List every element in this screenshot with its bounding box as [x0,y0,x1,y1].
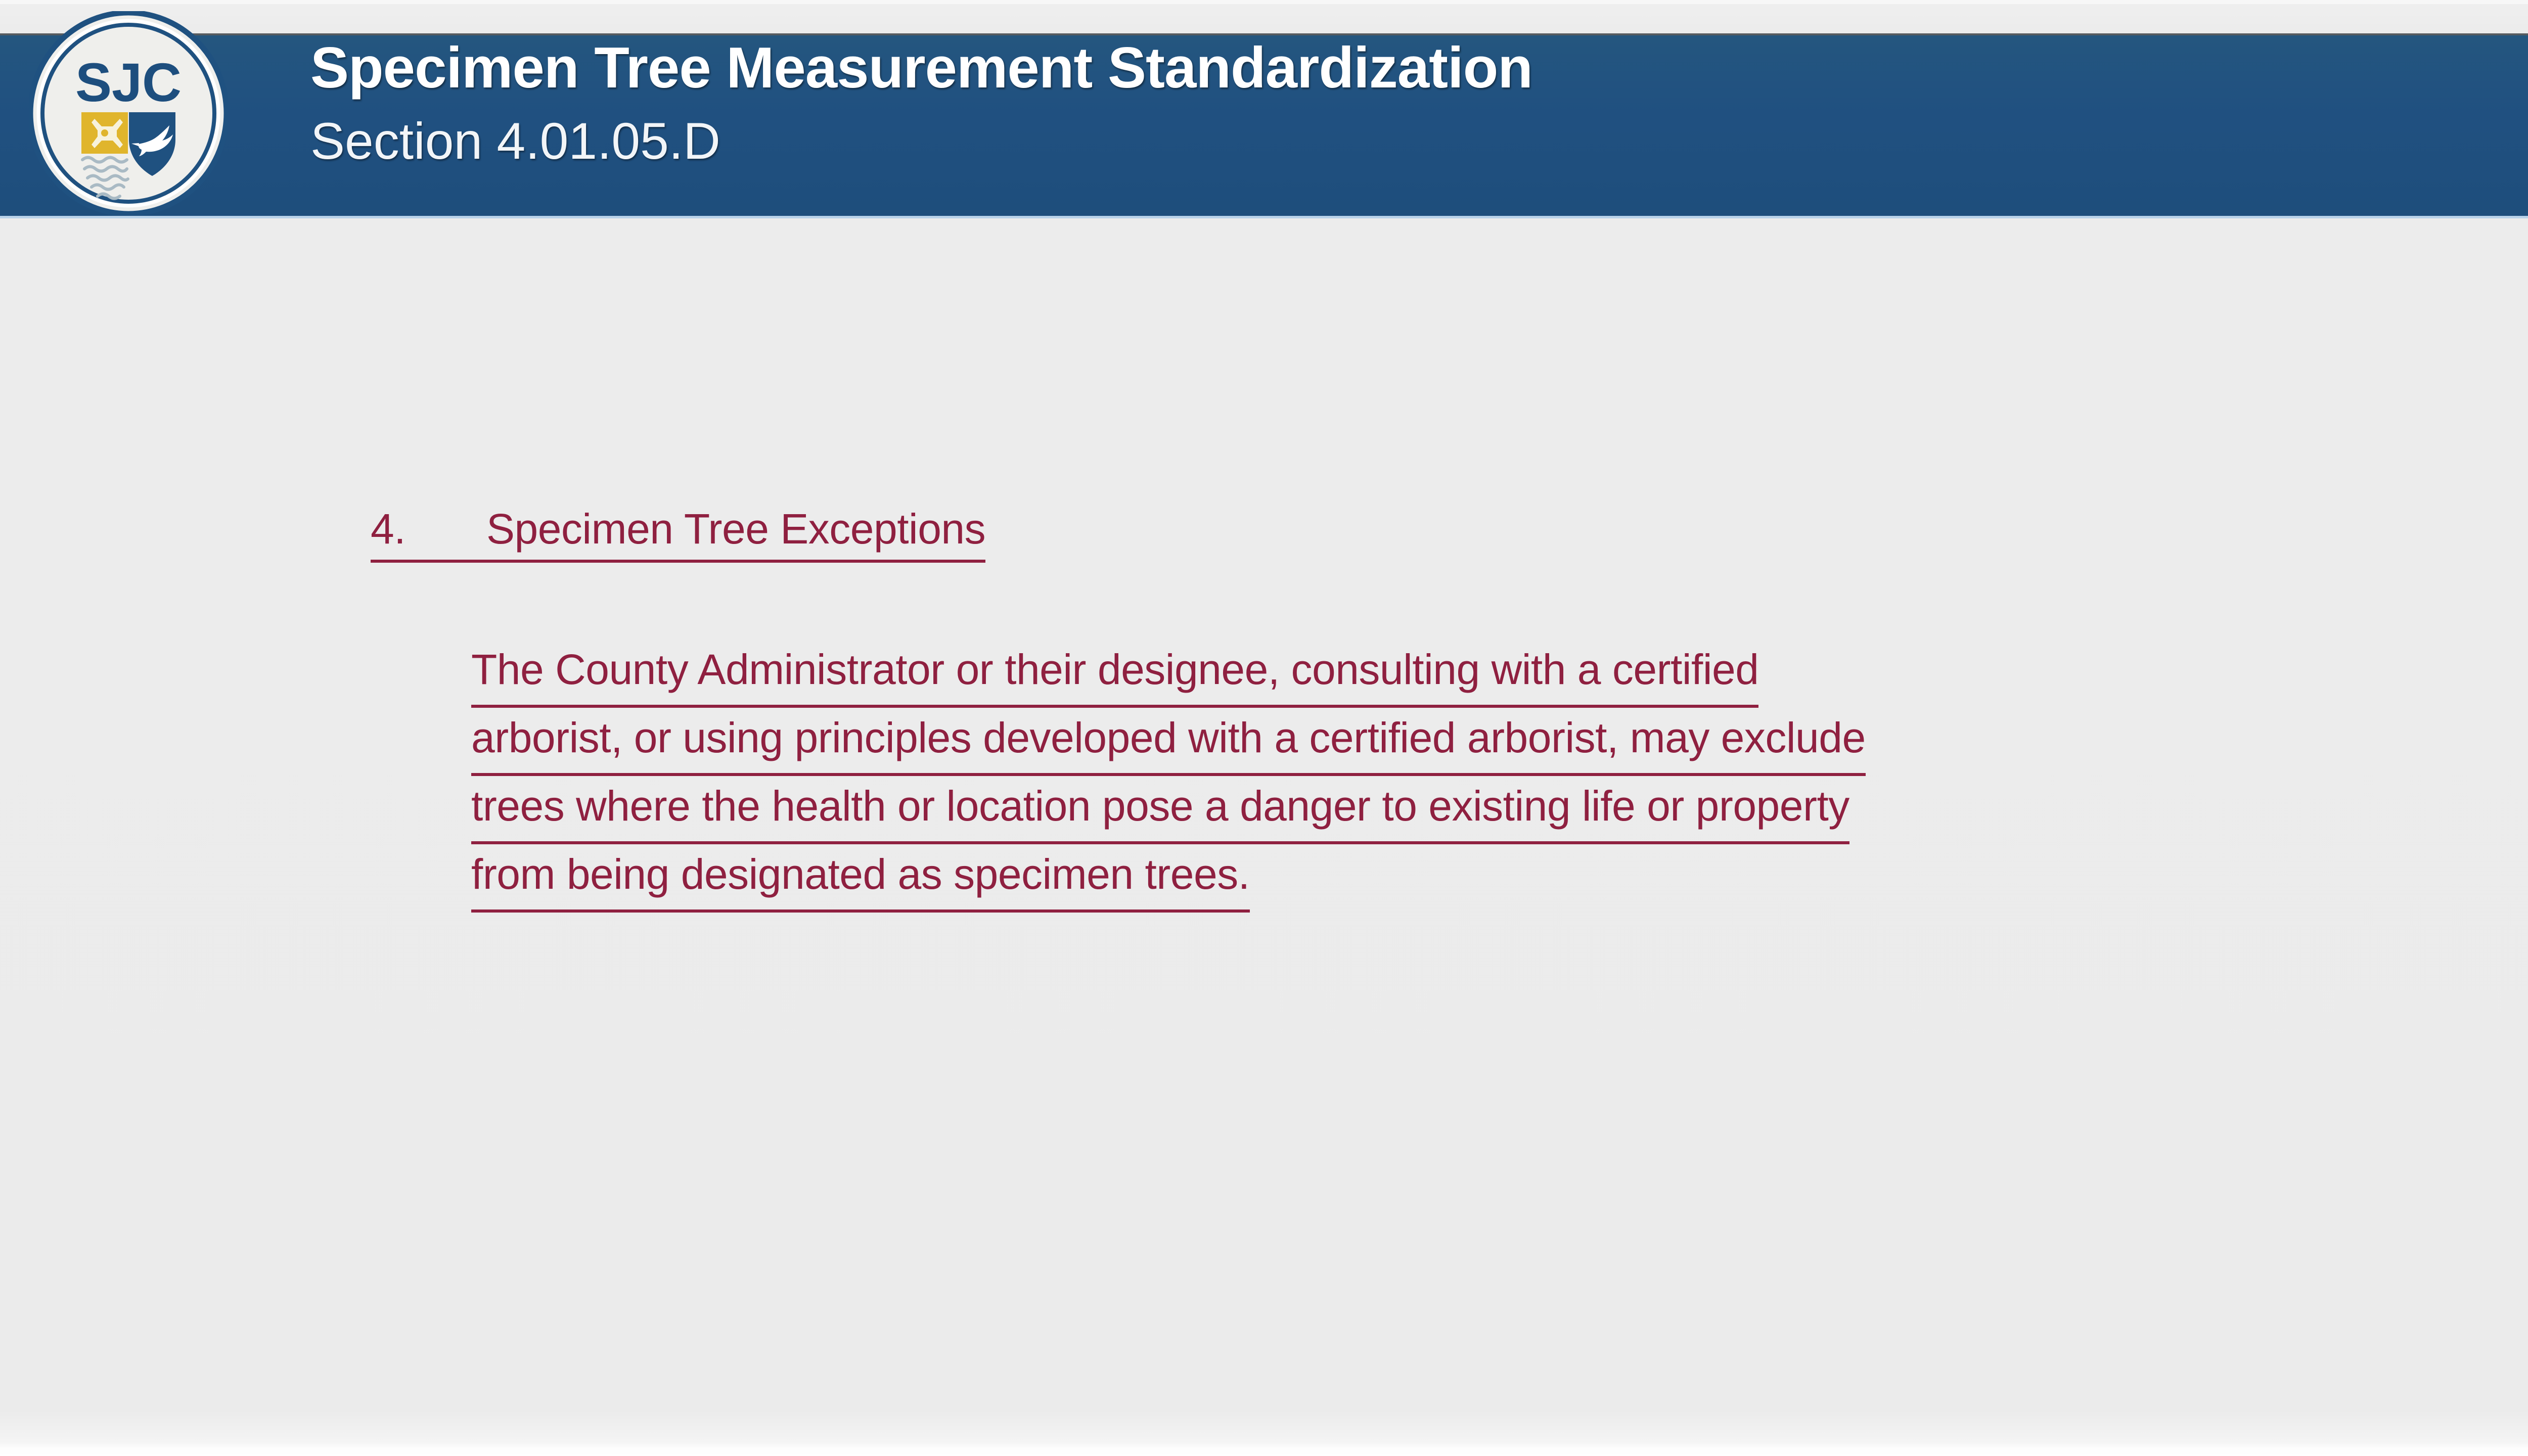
slide-body: 4. Specimen Tree Exceptions The County A… [0,458,2528,913]
clause-tab-space [405,505,486,553]
paragraph-line: from being designated as specimen trees. [471,844,2210,913]
paragraph-line-text: arborist, or using principles developed … [471,708,1866,776]
page-subtitle: Section 4.01.05.D [310,115,2282,167]
paragraph-line: The County Administrator or their design… [471,640,2210,708]
clause-heading: 4. Specimen Tree Exceptions [301,458,1091,610]
paragraph-line: trees where the health or location pose … [471,776,2210,844]
page-title: Specimen Tree Measurement Standardizatio… [310,39,2282,97]
clause-paragraph: The County Administrator or their design… [471,640,2210,913]
paragraph-line-text: trees where the health or location pose … [471,776,1849,844]
clause-title: Specimen Tree Exceptions [486,505,985,553]
paragraph-line-text: from being designated as specimen trees. [471,844,1250,913]
paragraph-line-text: The County Administrator or their design… [471,640,1758,708]
sjc-county-seal-logo: SJC [29,11,228,215]
paragraph-line: arborist, or using principles developed … [471,708,2210,776]
seal-initials: SJC [75,52,182,113]
slide-header-text-group: Specimen Tree Measurement Standardizatio… [310,39,2282,167]
clause-heading-text: 4. Specimen Tree Exceptions [371,505,985,563]
seal-icon: SJC [29,11,228,215]
clause-number: 4. [371,505,405,553]
slide-top-edge [0,0,2528,4]
presentation-slide: Specimen Tree Measurement Standardizatio… [0,0,2528,1456]
